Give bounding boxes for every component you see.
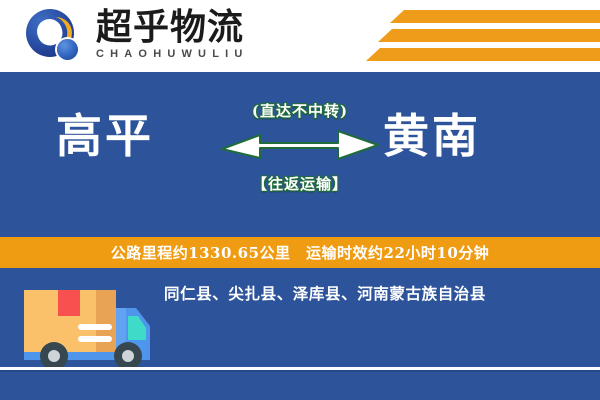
road-line-shadow — [0, 370, 600, 372]
stripe-1 — [390, 10, 600, 23]
distance-duration-text: 公路里程约1330.65公里 运输时效约22小时10分钟 — [111, 242, 490, 263]
poster-header: 超乎物流 CHAOHUWULIU — [0, 0, 600, 72]
distance-duration-bar: 公路里程约1330.65公里 运输时效约22小时10分钟 — [0, 237, 600, 268]
header-stripes-decoration — [310, 10, 600, 64]
stripe-2 — [378, 29, 600, 42]
delivery-truck-icon — [18, 272, 170, 372]
round-trip-note: 【往返运输】 — [200, 173, 400, 194]
chaohu-logistics-logo-icon — [26, 9, 84, 65]
brand-name-en: CHAOHUWULIU — [96, 48, 296, 60]
coverage-section: 同仁县、尖扎县、泽库县、河南蒙古族自治县 — [0, 268, 600, 400]
logo-crescent-icon — [26, 9, 84, 65]
route-panel: 高平 (直达不中转) 【往返运输】 黄南 — [0, 72, 600, 237]
brand-block: 超乎物流 CHAOHUWULIU — [96, 7, 296, 60]
stripe-3 — [366, 48, 600, 61]
origin-city: 高平 — [56, 110, 154, 162]
brand-name-cn: 超乎物流 — [96, 7, 296, 47]
direct-route-note: (直达不中转) — [200, 100, 400, 121]
bidirectional-arrow-icon — [220, 128, 380, 162]
destination-city: 黄南 — [383, 110, 481, 162]
coverage-areas-text: 同仁县、尖扎县、泽库县、河南蒙古族自治县 — [164, 282, 486, 304]
logo-accent-dot — [57, 39, 78, 60]
logistics-route-poster: 超乎物流 CHAOHUWULIU 高平 (直达不中转) 【往返运输】 黄南 公路… — [0, 0, 600, 400]
route-middle-block: (直达不中转) 【往返运输】 — [200, 100, 400, 194]
